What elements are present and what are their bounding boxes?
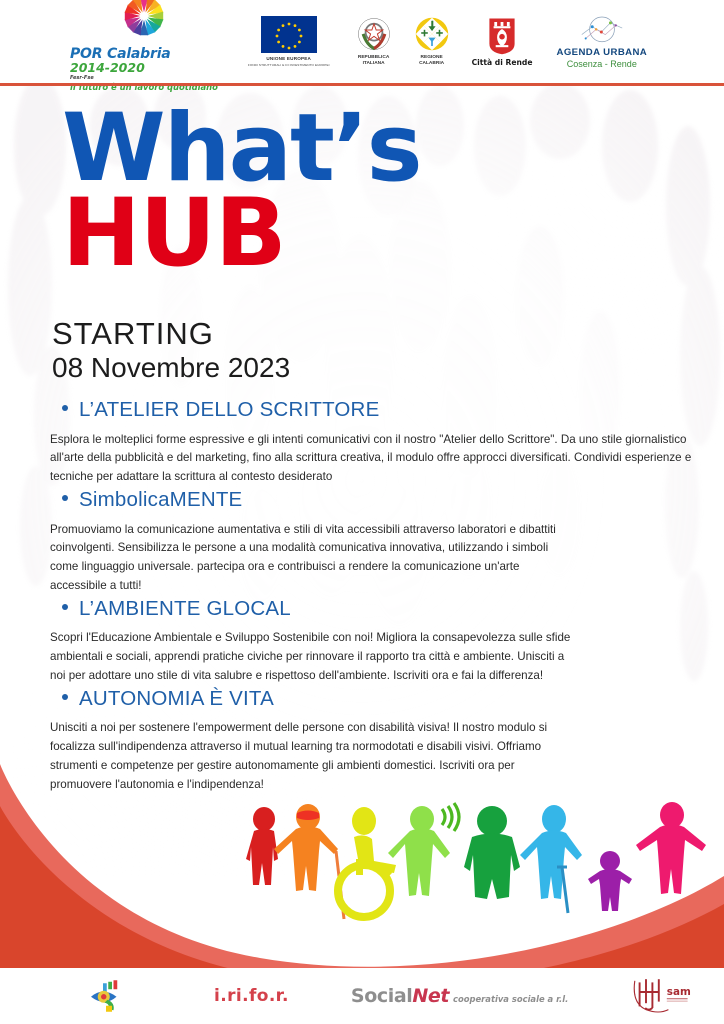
module-heading: SimbolicaMENTE — [0, 488, 724, 513]
module-item: AUTONOMIA È VITA Unisciti a noi per sost… — [0, 687, 724, 795]
poster-title: What’s HUB — [62, 108, 421, 277]
por-years: 2014-2020 — [70, 62, 218, 75]
repubblica-line1: REPUBBLICA — [358, 55, 389, 60]
module-heading: L’AMBIENTE GLOCAL — [0, 597, 724, 622]
logo-unione-europea: UNIONE EUROPEA FONDI STRUTTURALI E DI IN… — [248, 16, 330, 67]
starting-label: STARTING — [52, 318, 290, 351]
module-item: SimbolicaMENTE Promuoviamo la comunicazi… — [0, 488, 724, 596]
logo-citta-di-rende: Città di Rende — [472, 17, 533, 67]
poster: POR Calabria 2014-2020 Fesr-Fse il futur… — [0, 0, 724, 1024]
logo-regione-calabria: REGIONE CALABRIA — [414, 16, 450, 68]
module-body: Scopri l'Educazione Ambientale e Svilupp… — [0, 629, 724, 685]
logo-repubblica-italiana: REPUBBLICA ITALIANA — [356, 16, 392, 68]
por-calabria-flower-icon — [120, 0, 168, 40]
bullet-icon — [62, 405, 68, 411]
italian-republic-emblem-icon — [356, 16, 392, 52]
agenda-urbana-subtitle: Cosenza - Rende — [567, 59, 637, 69]
module-title: AUTONOMIA È VITA — [79, 687, 274, 712]
module-heading: L’ATELIER DELLO SCRITTORE — [0, 398, 724, 423]
figure-person — [636, 802, 706, 894]
logo-agenda-urbana: AGENDA URBANA Cosenza - Rende — [556, 15, 647, 69]
starting-block: STARTING 08 Novembre 2023 — [52, 318, 290, 384]
module-item: L’AMBIENTE GLOCAL Scopri l'Educazione Am… — [0, 597, 724, 686]
logo-socialnet: SocialNet cooperativa sociale a r.l. — [351, 985, 568, 1007]
figure-person-hearing — [388, 803, 459, 896]
module-list: L’ATELIER DELLO SCRITTORE Esplora le mol… — [0, 398, 724, 795]
sam-logo-icon: sam — [630, 976, 694, 1016]
hearing-waves-icon — [442, 803, 459, 831]
por-fund: Fesr-Fse — [70, 76, 218, 81]
title-line-hub: HUB — [62, 191, 421, 277]
eu-subcaption: FONDI STRUTTURALI E DI INVESTIMENTO EURO… — [248, 63, 330, 67]
starting-date: 08 Novembre 2023 — [52, 353, 290, 384]
header-logo-strip: POR Calabria 2014-2020 Fesr-Fse il futur… — [0, 0, 724, 83]
module-title: L’ATELIER DELLO SCRITTORE — [79, 398, 379, 423]
regione-line1: REGIONE — [421, 55, 443, 60]
figure-person-with-crutch — [520, 805, 582, 913]
repubblica-line2: ITALIANA — [363, 61, 385, 66]
agenda-urbana-title: AGENDA URBANA — [556, 47, 647, 58]
module-body: Unisciti a noi per sostenere l'empowerme… — [0, 719, 724, 794]
figure-child — [588, 851, 632, 911]
figure-wheelchair-user — [338, 807, 396, 917]
socialnet-part2: Net — [412, 985, 449, 1007]
module-title: L’AMBIENTE GLOCAL — [79, 597, 291, 622]
footer-logo-strip: i.ri.fo.r. SocialNet cooperativa sociale… — [0, 968, 724, 1024]
repubblica-caption: REPUBBLICA ITALIANA — [358, 55, 389, 68]
eu-flag-icon — [261, 16, 317, 53]
figure-standing-person — [246, 807, 278, 885]
eu-caption: UNIONE EUROPEA — [266, 56, 311, 61]
logo-por-calabria: POR Calabria 2014-2020 Fesr-Fse il futur… — [70, 0, 218, 91]
regione-caption: REGIONE CALABRIA — [419, 55, 444, 68]
regione-line2: CALABRIA — [419, 61, 444, 66]
module-body: Esplora le molteplici forme espressive e… — [0, 431, 724, 487]
figure-large-person — [464, 806, 520, 899]
por-title: POR Calabria — [70, 47, 218, 61]
diverse-people-illustration — [236, 801, 724, 936]
rende-coat-of-arms-icon — [488, 17, 516, 55]
regione-calabria-emblem-icon — [414, 16, 450, 52]
agenda-urbana-network-icon — [579, 15, 625, 45]
rende-caption: Città di Rende — [472, 58, 533, 67]
bullet-icon — [62, 495, 68, 501]
header-divider-rule — [0, 83, 724, 86]
module-item: L’ATELIER DELLO SCRITTORE Esplora le mol… — [0, 398, 724, 487]
module-body: Promuoviamo la comunicazione aumentativa… — [0, 521, 724, 596]
socialnet-part1: Social — [351, 985, 412, 1007]
figure-person-with-white-cane — [274, 804, 344, 919]
bullet-icon — [62, 604, 68, 610]
uici-eye-logo-icon — [88, 977, 130, 1015]
socialnet-tagline: cooperativa sociale a r.l. — [453, 994, 568, 1004]
module-heading: AUTONOMIA È VITA — [0, 687, 724, 712]
bullet-icon — [62, 694, 68, 700]
sam-text: sam — [667, 986, 691, 998]
module-title: SimbolicaMENTE — [79, 488, 242, 513]
irifor-text: i.ri.fo.r. — [214, 986, 289, 1006]
logo-irifor: i.ri.fo.r. — [214, 986, 289, 1006]
